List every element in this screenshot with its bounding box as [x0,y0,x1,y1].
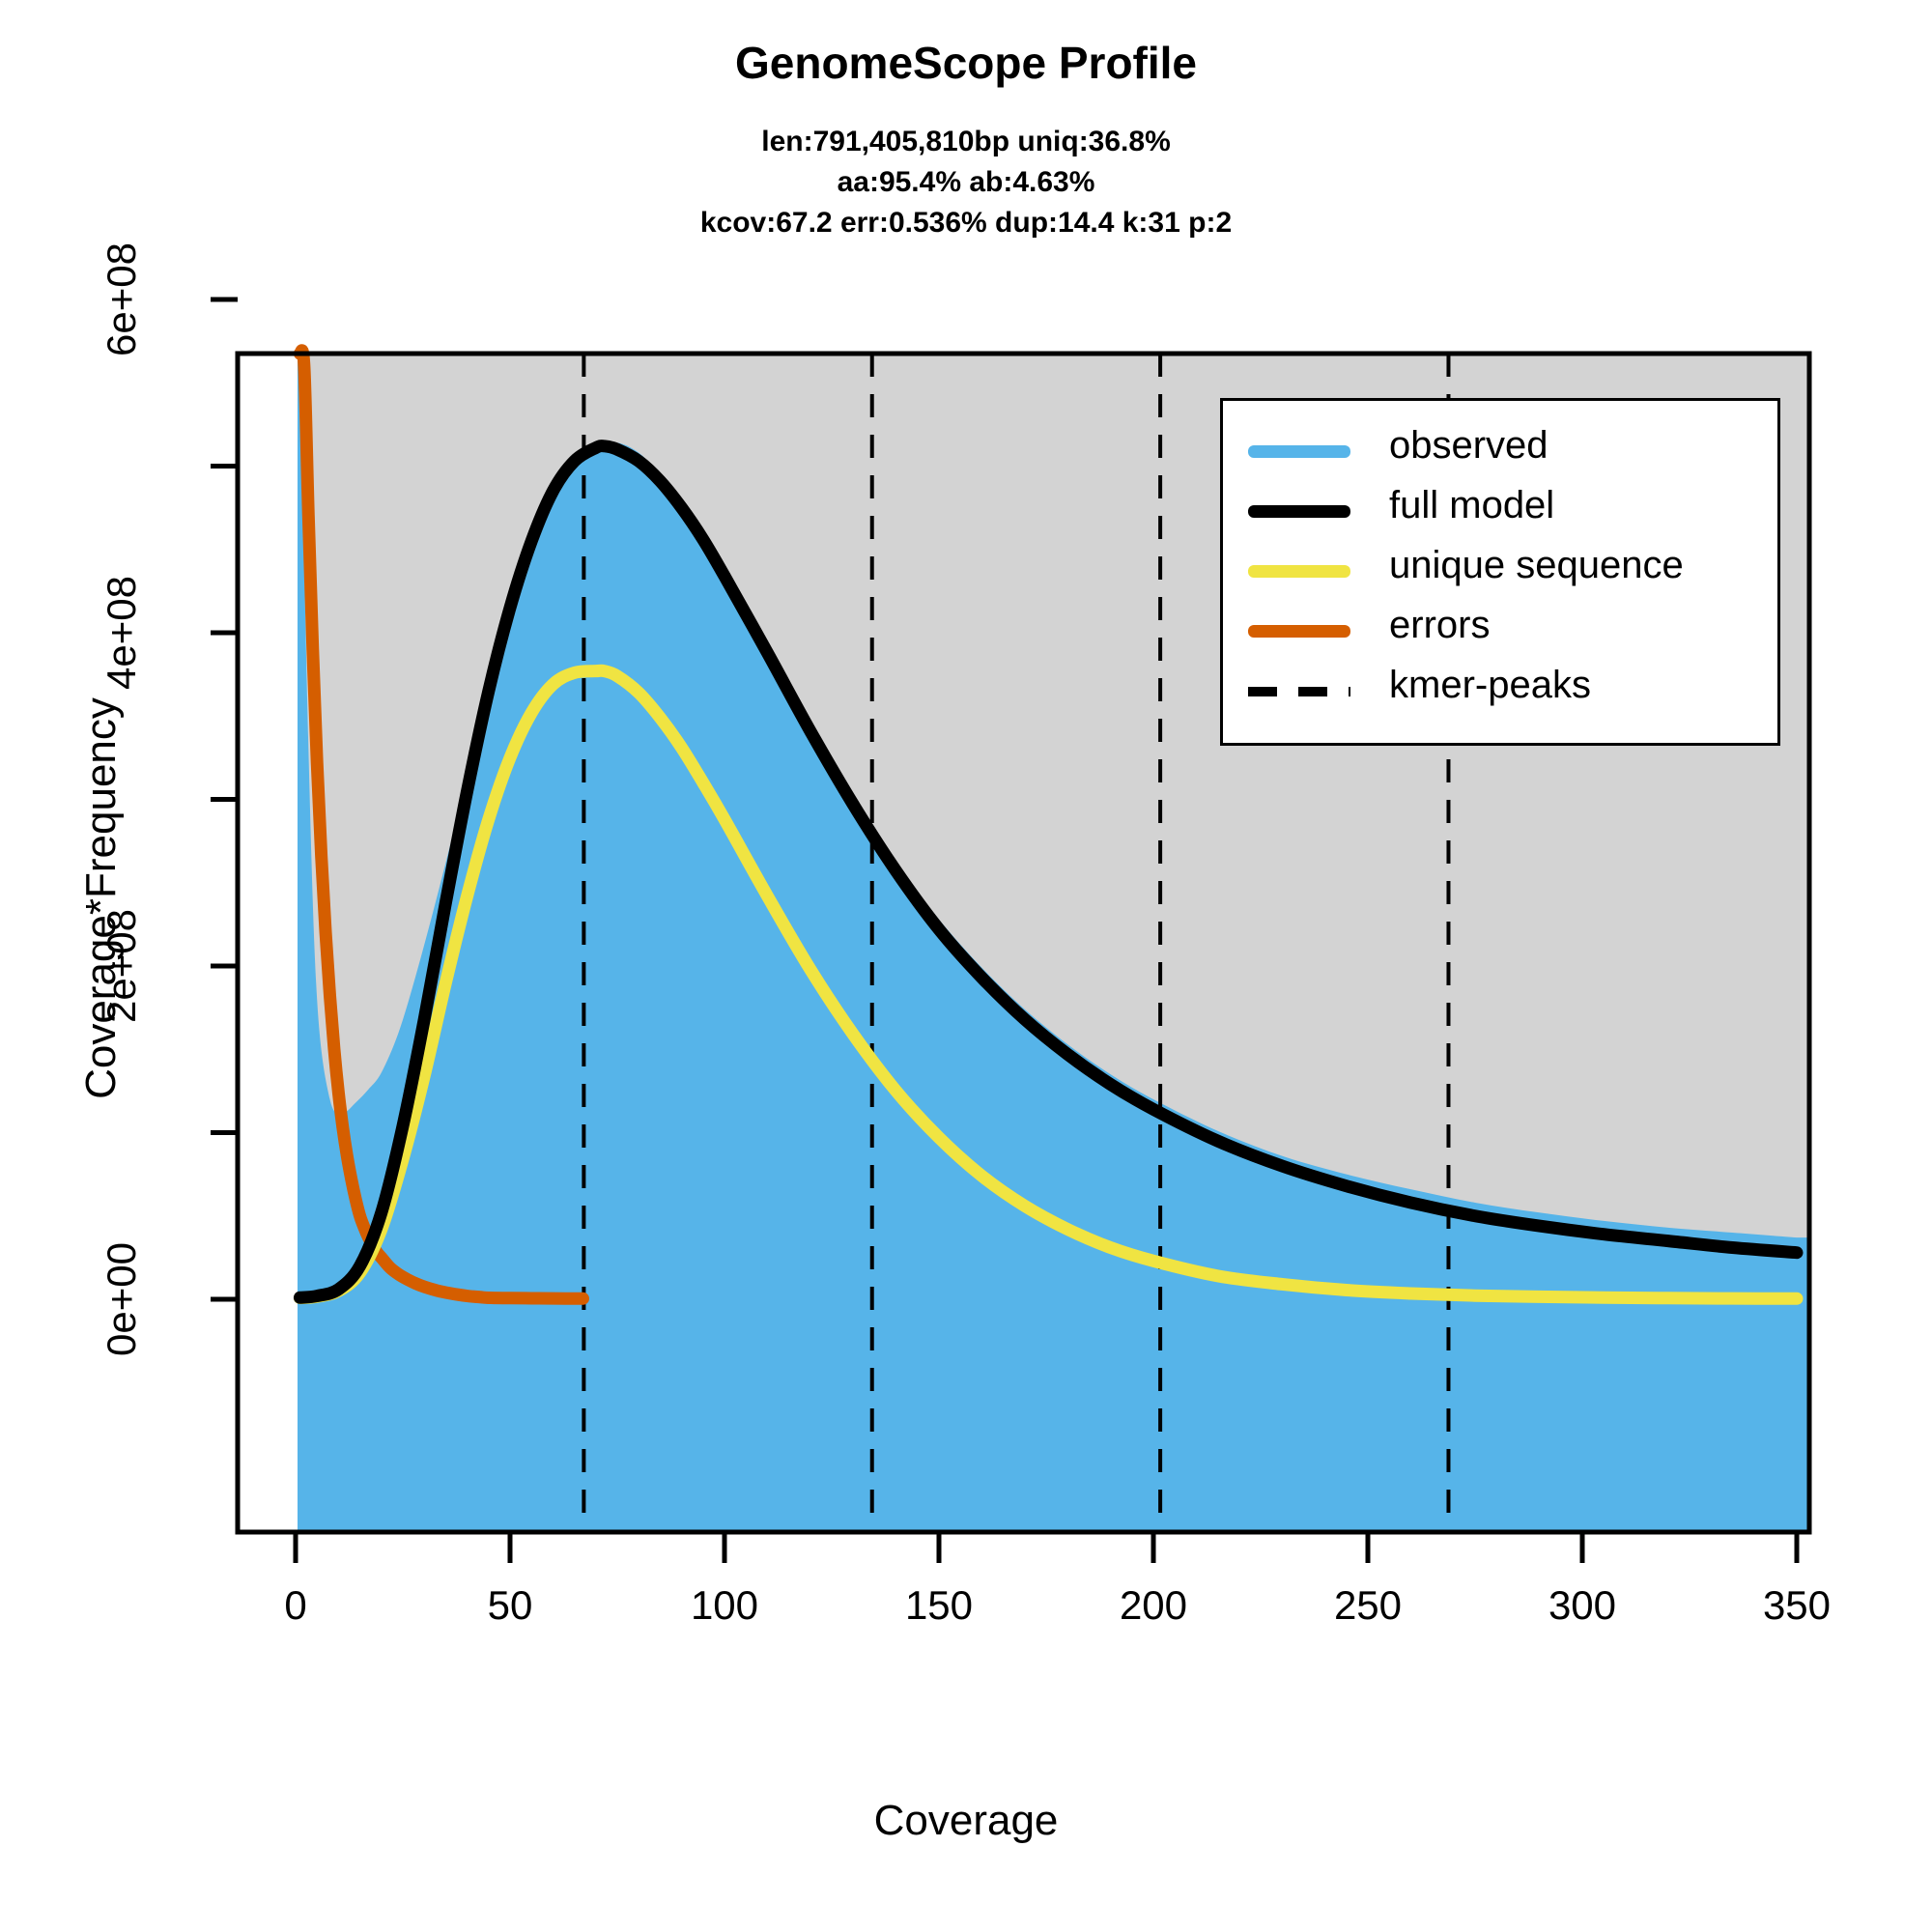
legend-label: unique sequence [1389,544,1684,587]
y-tick-label-6: 6e+08 [99,222,145,377]
y-tick-label-4: 4e+08 [99,555,145,710]
legend-label: full model [1389,484,1554,527]
x-tick-label-4: 200 [1057,1582,1250,1629]
legend-label: errors [1389,604,1490,647]
legend-label: observed [1389,424,1548,468]
plot-svg [0,0,1932,1932]
y-tick-label-2: 2e+08 [99,889,145,1043]
x-tick-label-7: 350 [1700,1582,1893,1629]
y-tick-label-0: 0e+00 [99,1222,145,1377]
x-tick-label-2: 100 [628,1582,821,1629]
legend-item-observed: observed [1223,424,1777,484]
chart-legend: observedfull modelunique sequenceerrorsk… [1220,398,1780,746]
legend-item-kmer-peaks: kmer-peaks [1223,664,1777,724]
legend-swatch-icon [1248,625,1350,638]
legend-swatch-icon [1248,445,1350,458]
x-tick-label-5: 250 [1271,1582,1464,1629]
legend-item-full-model: full model [1223,484,1777,544]
legend-swatch-icon [1248,505,1350,518]
x-axis-title: Coverage [0,1797,1932,1845]
plot-area [0,0,1932,1932]
x-tick-label-0: 0 [199,1582,392,1629]
legend-label: kmer-peaks [1389,664,1591,707]
legend-item-unique-sequence: unique sequence [1223,544,1777,604]
x-tick-label-1: 50 [413,1582,607,1629]
legend-swatch-icon [1248,687,1350,696]
legend-item-errors: errors [1223,604,1777,664]
x-tick-label-6: 300 [1486,1582,1679,1629]
x-tick-label-3: 150 [842,1582,1036,1629]
genomescope-profile-figure: GenomeScope Profile len:791,405,810bp un… [0,0,1932,1932]
legend-swatch-icon [1248,565,1350,578]
